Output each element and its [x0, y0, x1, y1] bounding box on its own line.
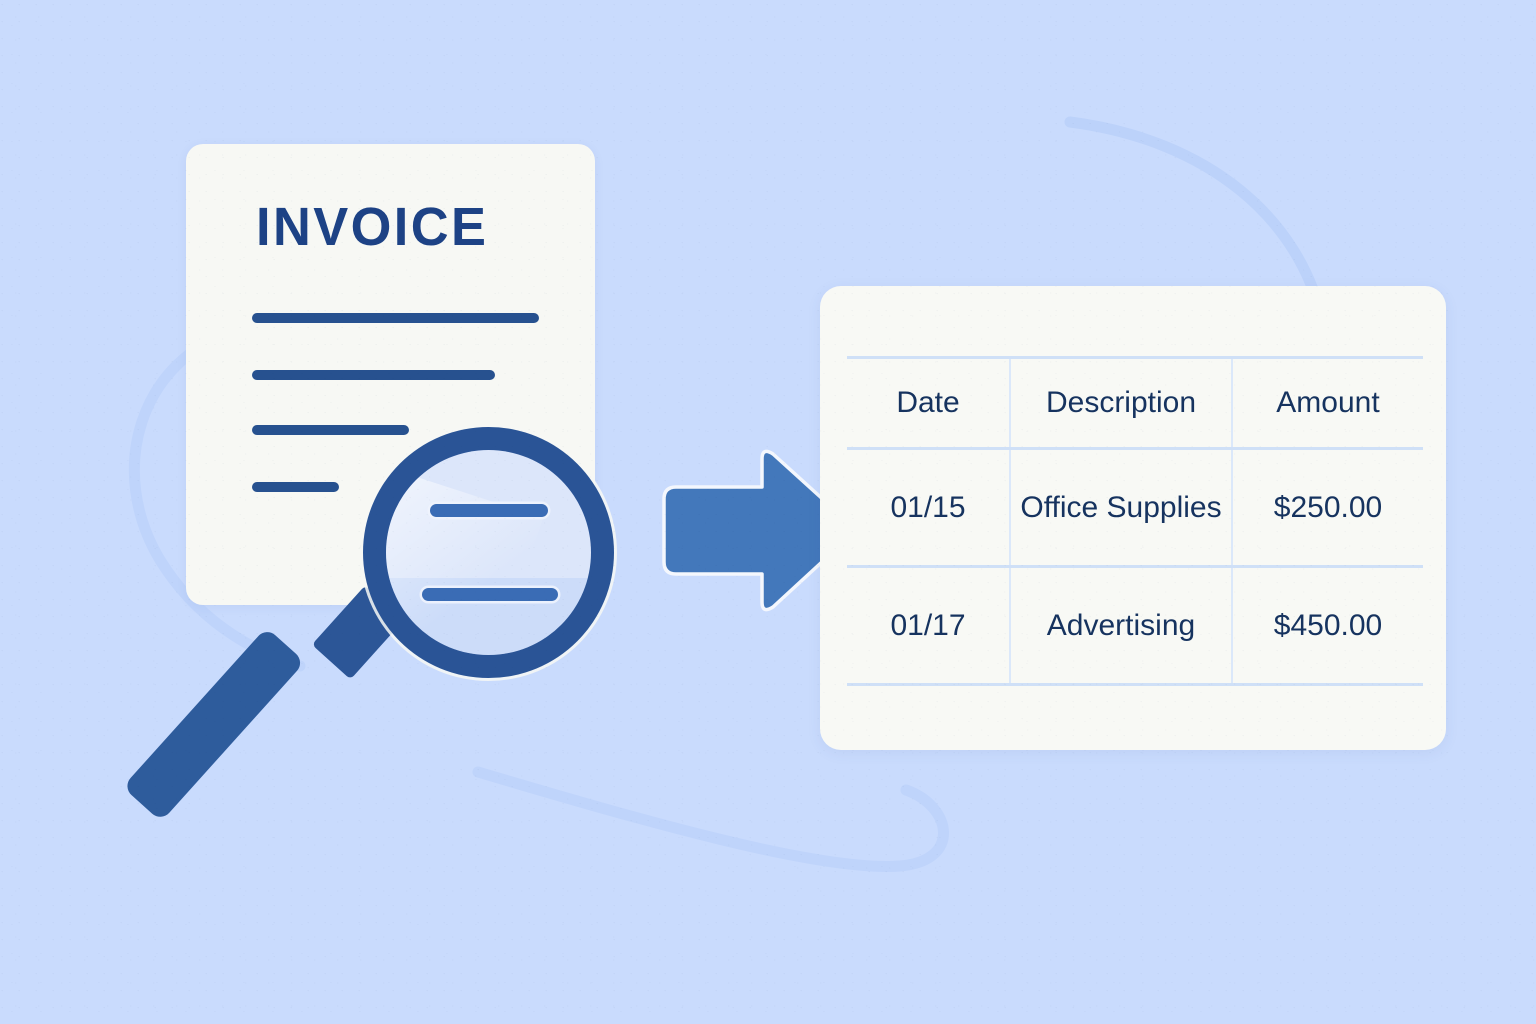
magnifier-lens — [386, 450, 591, 655]
magnified-text-line-2 — [422, 588, 558, 601]
extracted-table-card: Date Description Amount 01/15 Office Sup… — [820, 286, 1446, 750]
magnifier-ring — [363, 427, 614, 678]
cell-amount: $450.00 — [1232, 567, 1423, 685]
swoosh-bottom — [478, 772, 944, 866]
column-header-amount: Amount — [1232, 358, 1423, 449]
cell-amount: $250.00 — [1232, 449, 1423, 567]
invoice-text-line-3 — [252, 425, 409, 435]
table-row[interactable]: 01/17 Advertising $450.00 — [847, 567, 1423, 685]
table-row[interactable]: 01/15 Office Supplies $250.00 — [847, 449, 1423, 567]
column-header-date: Date — [847, 358, 1010, 449]
extracted-data-table: Date Description Amount 01/15 Office Sup… — [847, 356, 1423, 686]
illustration-scene: INVOICE Date Description — [0, 0, 1536, 1024]
cell-date: 01/17 — [847, 567, 1010, 685]
magnified-text-line-1 — [430, 504, 548, 517]
cell-date: 01/15 — [847, 449, 1010, 567]
invoice-text-line-4 — [252, 482, 339, 492]
cell-description: Advertising — [1010, 567, 1232, 685]
table-header-row: Date Description Amount — [847, 358, 1423, 449]
invoice-title: INVOICE — [256, 200, 488, 254]
invoice-text-line-1 — [252, 313, 539, 323]
cell-description: Office Supplies — [1010, 449, 1232, 567]
magnifier-handle — [123, 627, 306, 822]
column-header-description: Description — [1010, 358, 1232, 449]
invoice-text-line-2 — [252, 370, 495, 380]
